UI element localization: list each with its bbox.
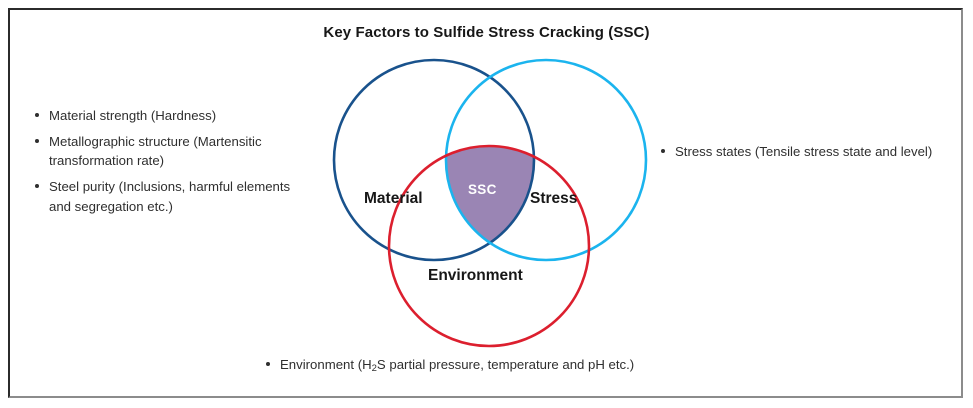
- material-factors-list: Material strength (Hardness) Metallograp…: [34, 106, 302, 223]
- list-item: Environment (H2S partial pressure, tempe…: [265, 355, 785, 376]
- page-title: Key Factors to Sulfide Stress Cracking (…: [0, 24, 973, 41]
- list-item: Stress states (Tensile stress state and …: [660, 142, 940, 161]
- environment-text-prefix: Environment (H: [280, 357, 372, 372]
- stress-factors-list: Stress states (Tensile stress state and …: [660, 142, 940, 168]
- circle-label-material: Material: [364, 190, 423, 208]
- list-item: Material strength (Hardness): [34, 106, 302, 125]
- list-item: Metallographic structure (Martensitic tr…: [34, 132, 302, 170]
- circle-label-stress: Stress: [530, 190, 577, 208]
- circle-label-environment: Environment: [428, 267, 523, 285]
- ssc-venn-figure: Key Factors to Sulfide Stress Cracking (…: [0, 0, 973, 408]
- environment-text-suffix: S partial pressure, temperature and pH e…: [377, 357, 634, 372]
- list-item: Steel purity (Inclusions, harmful elemen…: [34, 177, 302, 215]
- venn-diagram: Material Stress Environment SSC: [320, 48, 660, 358]
- ssc-intersection-label: SSC: [468, 182, 497, 197]
- environment-factors-list: Environment (H2S partial pressure, tempe…: [265, 355, 785, 376]
